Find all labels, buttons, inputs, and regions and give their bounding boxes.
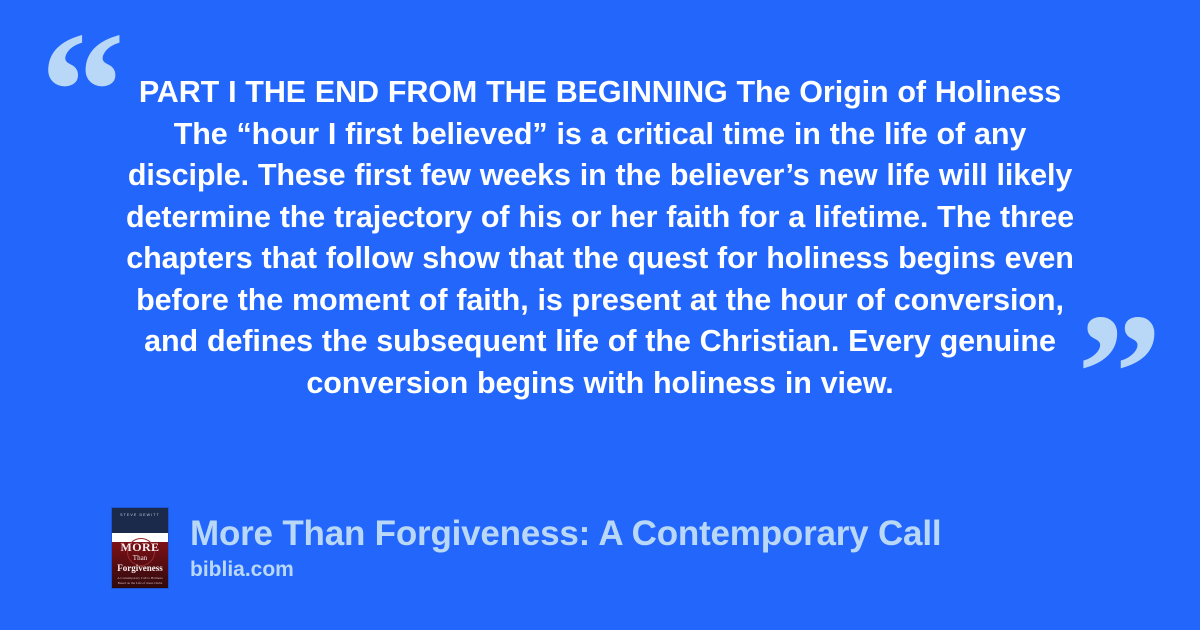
quote-card: “ PART I THE END FROM THE BEGINNING The … xyxy=(0,0,1200,630)
book-cover-thumbnail[interactable]: STEVE DEWITT MORE Than Forgiveness A Con… xyxy=(112,508,168,588)
site-url[interactable]: biblia.com xyxy=(190,557,941,583)
book-cover-title-line-1: MORE xyxy=(112,540,168,555)
book-cover-subtitle: A Contemporary Call to Holiness Based on… xyxy=(115,576,165,585)
book-cover-title-line-2: Than xyxy=(112,554,168,562)
book-cover-top-band xyxy=(112,508,168,533)
book-title[interactable]: More Than Forgiveness: A Contemporary Ca… xyxy=(190,514,941,554)
quote-text: PART I THE END FROM THE BEGINNING The Or… xyxy=(112,72,1088,404)
book-cover-author: STEVE DEWITT xyxy=(112,513,168,517)
footer-text-group: More Than Forgiveness: A Contemporary Ca… xyxy=(190,514,941,583)
quote-area: PART I THE END FROM THE BEGINNING The Or… xyxy=(112,72,1088,404)
book-cover-title-line-3: Forgiveness xyxy=(112,563,168,573)
footer: STEVE DEWITT MORE Than Forgiveness A Con… xyxy=(112,508,941,588)
closing-quote-icon: ” xyxy=(1077,288,1162,458)
